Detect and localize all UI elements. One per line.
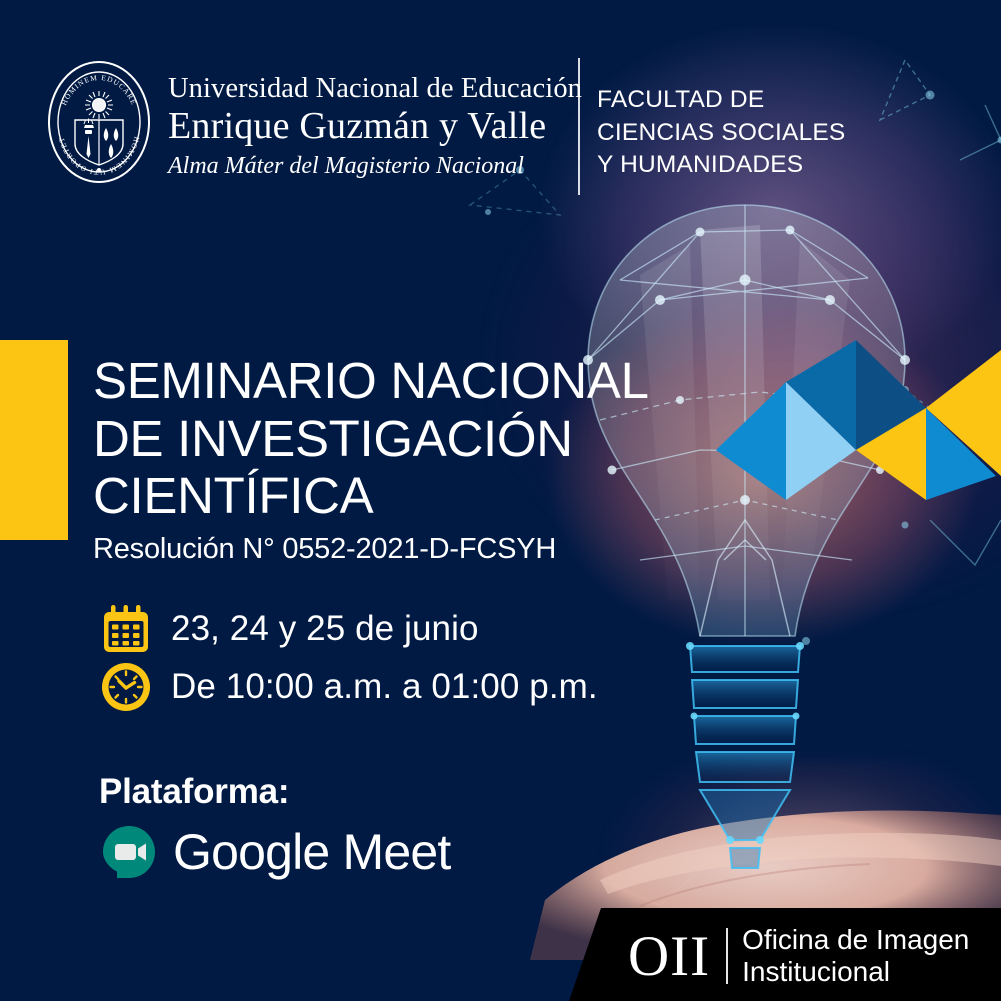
university-seal-icon: HOMINEM EDUCARE HOMINEM UTI OPORTET (44, 58, 154, 186)
geometric-triangle-band (716, 340, 1001, 500)
google-meet-icon (99, 822, 159, 882)
faculty-line-3: Y HUMANIDADES (597, 149, 845, 182)
left-accent-rectangle (0, 340, 68, 540)
university-line1: Universidad Nacional de Educación (168, 74, 582, 105)
university-name: Universidad Nacional de Educación Enriqu… (168, 58, 582, 180)
event-time: De 10:00 a.m. a 01:00 p.m. (171, 667, 598, 707)
faculty-line-2: CIENCIAS SOCIALES (597, 117, 845, 150)
faculty-line-1: FACULTAD DE (597, 84, 845, 117)
google-meet-label: Google Meet (173, 823, 450, 881)
poster: HOMINEM EDUCARE HOMINEM UTI OPORTET (0, 0, 1001, 1001)
platform-label: Plataforma: (99, 772, 450, 812)
university-tagline: Alma Máter del Magisterio Nacional (168, 153, 582, 181)
event-title-block: SEMINARIO NACIONAL DE INVESTIGACIÓN CIEN… (93, 352, 649, 566)
event-time-row: De 10:00 a.m. a 01:00 p.m. (99, 658, 598, 716)
event-date: 23, 24 y 25 de junio (171, 609, 479, 649)
faculty-name: FACULTAD DE CIENCIAS SOCIALES Y HUMANIDA… (597, 84, 845, 182)
hand-artwork (530, 811, 1001, 960)
calendar-icon (99, 602, 153, 656)
platform-block: Plataforma: Google Meet (99, 772, 450, 882)
title-line-1: SEMINARIO NACIONAL (93, 352, 649, 410)
title-line-2: DE INVESTIGACIÓN (93, 410, 649, 468)
google-meet-row: Google Meet (99, 822, 450, 882)
header-divider (578, 58, 580, 195)
event-details: 23, 24 y 25 de junio De 10:00 a.m. a 01:… (99, 600, 598, 716)
event-date-row: 23, 24 y 25 de junio (99, 600, 598, 658)
title-line-3: CIENTÍFICA (93, 467, 649, 525)
institution-header: HOMINEM EDUCARE HOMINEM UTI OPORTET (44, 58, 582, 186)
university-line2: Enrique Guzmán y Valle (168, 106, 582, 148)
clock-icon (99, 660, 153, 714)
resolution-number: Resolución N° 0552-2021-D-FCSYH (93, 533, 649, 566)
